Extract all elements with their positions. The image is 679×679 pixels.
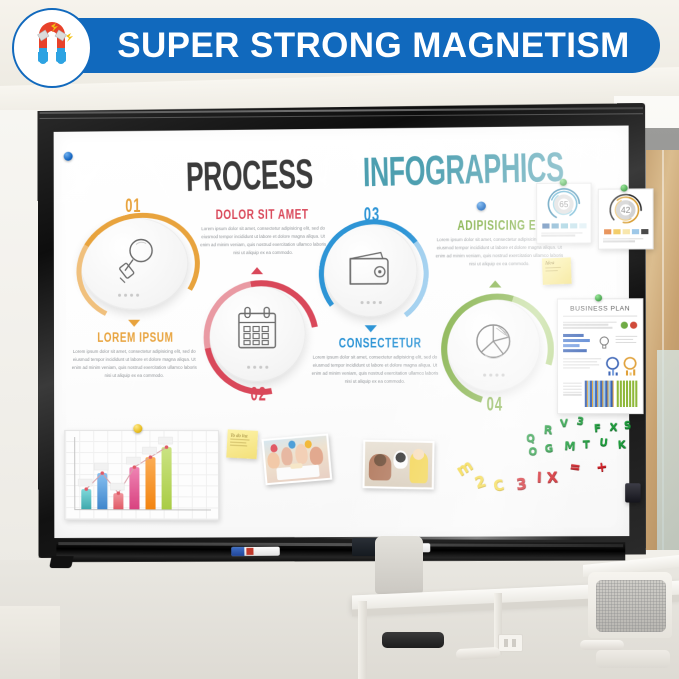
bar-chart-trendline (65, 431, 218, 520)
title-infographics: INFOGRAPHICS (362, 143, 564, 196)
letter-G[interactable]: G (544, 444, 553, 455)
letter-M[interactable]: M (564, 440, 576, 452)
letter-equals[interactable]: = (569, 460, 582, 475)
wall-power-outlet[interactable] (498, 634, 523, 652)
letter-V[interactable]: V (560, 419, 569, 430)
calendar-icon (233, 305, 282, 353)
chair-right-mesh (596, 580, 666, 632)
gauge-42-value: 42 (621, 206, 631, 215)
step-03-arrow (365, 325, 377, 332)
chair-right-seat (596, 650, 670, 668)
sticky-note-todo-lines (227, 437, 258, 450)
letter-I[interactable]: I (536, 471, 542, 485)
green-magnet-gauge-65[interactable] (560, 179, 567, 186)
letter-C[interactable]: C (492, 478, 505, 494)
step-02-label: DOLOR SIT AMET (216, 207, 309, 223)
door-glass-panel (657, 350, 679, 550)
magnetic-whiteboard[interactable]: PROCESSINFOGRAPHICS 01 (38, 103, 648, 581)
step-01-number: 01 (125, 195, 141, 217)
sticky-note-todo[interactable]: To do list (226, 429, 258, 459)
business-plan-title: BUSINESS PLAN (563, 305, 637, 312)
wallet-icon (346, 248, 395, 289)
headline-banner: SUPER STRONG MAGNETISM (45, 18, 660, 73)
radial-gauge-42: 42 (599, 191, 653, 228)
photo-birthday-party[interactable] (261, 433, 332, 485)
magnet-badge (12, 8, 92, 88)
whiteboard-content: PROCESSINFOGRAPHICS 01 (60, 130, 624, 536)
page-title: PROCESSINFOGRAPHICS (172, 148, 586, 197)
horseshoe-magnet-icon (26, 22, 78, 74)
letter-Q[interactable]: Q (526, 434, 536, 445)
letter-K[interactable]: K (618, 440, 627, 451)
chair-left-armrest (456, 647, 501, 660)
letter-U[interactable]: U (599, 438, 608, 449)
letter-R[interactable]: R (543, 424, 552, 436)
step-03-dots (361, 301, 382, 304)
step-01-arrow (128, 320, 140, 327)
letter-X[interactable]: X (609, 423, 617, 433)
headline-text: SUPER STRONG MAGNETISM (75, 26, 629, 66)
donut-chart-blue (605, 356, 619, 376)
sticky-note-idea-lines (542, 265, 571, 274)
sticky-note-idea[interactable]: Idea (542, 257, 572, 284)
whiteboard-eraser[interactable] (625, 483, 641, 502)
letter-T[interactable]: T (583, 440, 590, 450)
chair-left-seat (382, 632, 444, 648)
corner-magnet-right[interactable] (477, 202, 486, 211)
letter-2[interactable]: 2 (473, 474, 488, 492)
step-03-body: Lorem ipsum dolor sit amet, consectetur … (310, 353, 440, 386)
magnifying-glass-icon (116, 237, 156, 285)
product-marketing-image: SUPER STRONG MAGNETISM (0, 0, 679, 679)
donut-chart-orange (623, 356, 637, 376)
sticky-note-todo-text: To do list (227, 429, 258, 439)
bar-chart-card[interactable] (64, 430, 219, 521)
corner-magnet-left[interactable] (64, 152, 73, 161)
green-magnet-gauge-42[interactable] (620, 184, 627, 191)
step-02-body: Lorem ipsum dolor sit amet, consectetur … (198, 225, 328, 258)
chair-right-armrest (580, 640, 624, 650)
title-process: PROCESS (185, 150, 313, 201)
letter-red-X[interactable]: X (546, 471, 558, 486)
step-04-arrow (489, 280, 501, 287)
step-01-label: LOREM IPSUM (97, 330, 173, 345)
gauge-65-value: 65 (559, 200, 569, 209)
gauge-card-65[interactable]: 65 (536, 183, 592, 244)
photo-family-with-dog[interactable] (362, 440, 434, 490)
step-02-arrow (251, 267, 263, 274)
mesh-office-chair-left (375, 536, 423, 594)
radial-gauge-65: 65 (537, 186, 591, 223)
business-plan-card[interactable]: BUSINESS PLAN (557, 298, 644, 414)
step-01-body: Lorem ipsum dolor sit amet, consectetur … (70, 348, 199, 381)
step-03-label: CONSECTETUR (339, 336, 422, 351)
letter-plus[interactable]: + (595, 460, 608, 475)
letter-3[interactable]: 3 (576, 417, 585, 428)
gauge-card-42[interactable]: 42 (598, 188, 654, 249)
green-magnet-business-plan[interactable] (595, 294, 602, 301)
step-02-number: 02 (251, 383, 267, 405)
marker-tray-bracket (49, 556, 74, 568)
step-04-dots (483, 374, 505, 377)
pie-chart-icon (469, 319, 518, 368)
step-04-number: 04 (487, 393, 503, 415)
desk-leg-left (358, 601, 367, 679)
letter-S[interactable]: S (624, 421, 632, 432)
step-02-dots (247, 366, 268, 369)
step-03-number: 03 (364, 204, 380, 226)
dry-erase-marker-1[interactable] (231, 547, 280, 557)
step-01-dots (118, 294, 139, 297)
yellow-magnet-bar-chart[interactable] (133, 424, 142, 433)
lightbulb-icon (598, 336, 610, 350)
letter-F[interactable]: F (594, 424, 602, 435)
letter-red-3[interactable]: 3 (515, 476, 527, 492)
letter-O[interactable]: O (528, 447, 538, 458)
side-cabinet (0, 606, 60, 679)
